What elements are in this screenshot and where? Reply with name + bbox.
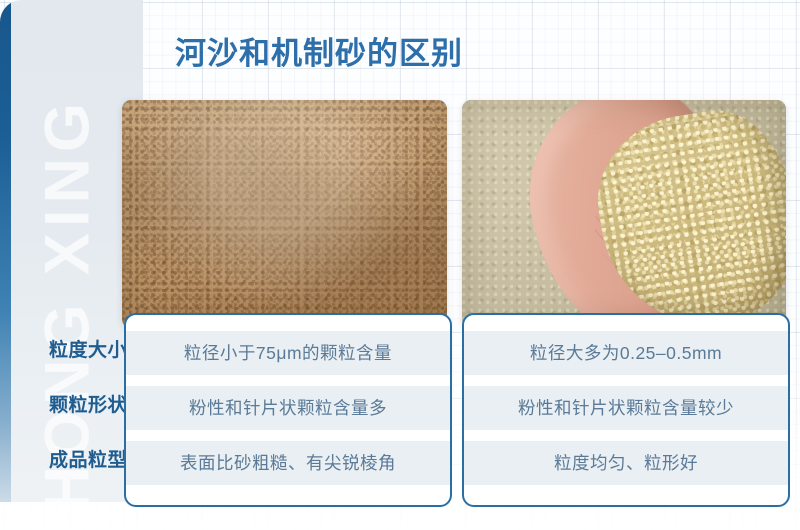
infographic-canvas: HONG XING 河沙和机制砂的区别 粒度大小 颗粒形状 成品粒型 粒径小于7…	[0, 0, 800, 530]
table-row: 粒径大多为0.25–0.5mm	[464, 331, 788, 375]
comparison-rows-left: 粒径小于75μm的颗粒含量 粉性和针片状颗粒含量多 表面比砂粗糙、有尖锐棱角	[126, 331, 450, 485]
criterion-label-text: 粒度大小	[49, 329, 127, 373]
criterion-row-label-1: 粒度大小	[8, 329, 140, 373]
criterion-row-label-3: 成品粒型	[8, 439, 140, 483]
table-row: 粉性和针片状颗粒含量多	[126, 386, 450, 430]
criterion-label-text: 成品粒型	[49, 439, 127, 483]
photo-vignette	[462, 100, 786, 328]
table-row: 粒径小于75μm的颗粒含量	[126, 331, 450, 375]
comparison-panel-river-sand: 粒径小于75μm的颗粒含量 粉性和针片状颗粒含量多 表面比砂粗糙、有尖锐棱角	[124, 313, 452, 507]
table-row: 表面比砂粗糙、有尖锐棱角	[126, 441, 450, 485]
page-title: 河沙和机制砂的区别	[175, 28, 463, 73]
criterion-row-label-2: 颗粒形状	[8, 384, 140, 428]
comparison-rows-right: 粒径大多为0.25–0.5mm 粉性和针片状颗粒含量较少 粒度均匀、粒形好	[464, 331, 788, 485]
criterion-label-text: 颗粒形状	[49, 384, 127, 428]
comparison-panel-machine-sand: 粒径大多为0.25–0.5mm 粉性和针片状颗粒含量较少 粒度均匀、粒形好	[462, 313, 790, 507]
table-row: 粉性和针片状颗粒含量较少	[464, 386, 788, 430]
table-row: 粒度均匀、粒形好	[464, 441, 788, 485]
machine-sand-photo	[462, 100, 786, 328]
photo-vignette	[122, 100, 447, 328]
river-sand-photo	[122, 100, 447, 328]
